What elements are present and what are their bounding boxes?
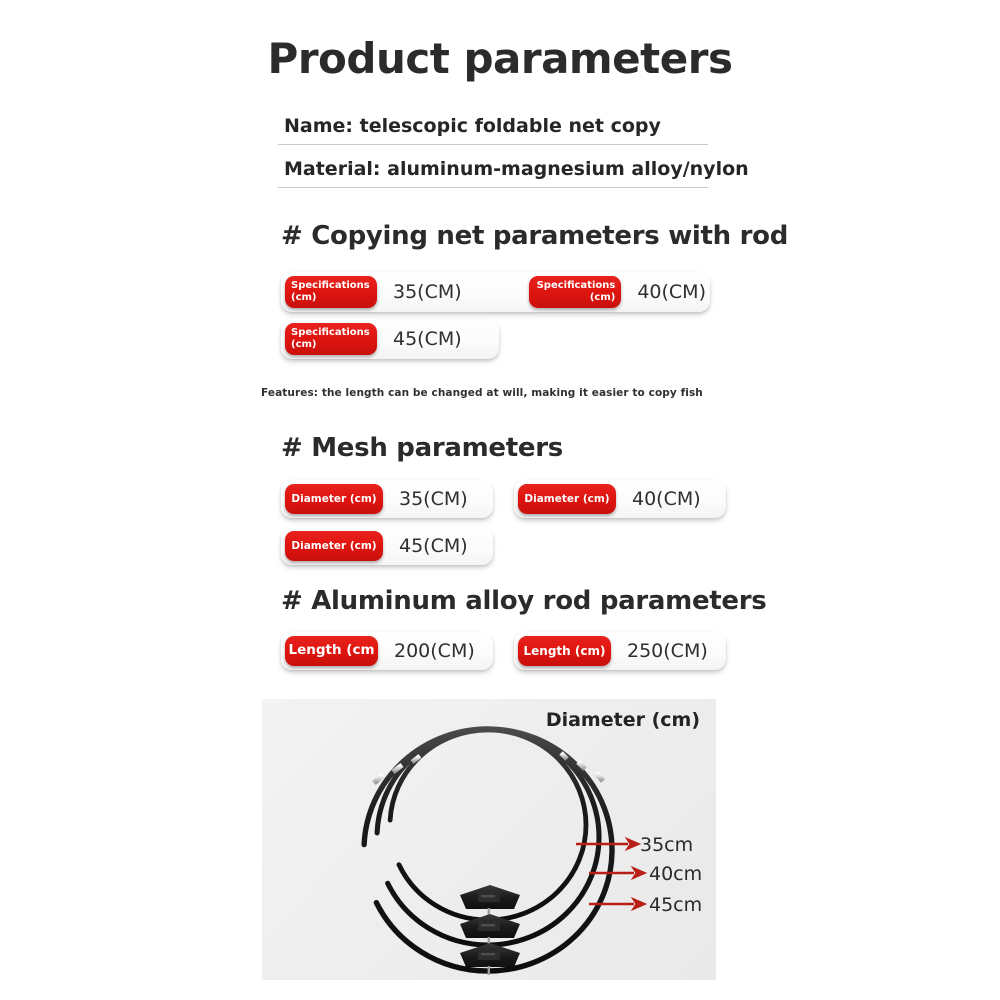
spec-material-line: Material: aluminum-magnesium alloy/nylon	[278, 158, 708, 188]
badge-line-2: (cm)	[535, 292, 615, 304]
badge-specifications-35: Specifications (cm)	[285, 276, 377, 308]
value-40cm-rod: 40(CM)	[621, 281, 706, 303]
value-45cm-rod: 45(CM)	[377, 328, 462, 350]
badge-diameter-35: Diameter (cm)	[285, 484, 383, 514]
badge-diameter-45: Diameter (cm)	[285, 531, 383, 561]
badge-diameter-40: Diameter (cm)	[518, 484, 616, 514]
badge-specifications-45: Specifications (cm)	[285, 323, 377, 355]
badge-length-250: Length (cm)	[518, 636, 611, 666]
features-note: Features: the length can be changed at w…	[261, 387, 703, 399]
section-heading-copying-net: # Copying net parameters with rod	[281, 221, 788, 251]
badge-specifications-40: Specifications (cm)	[529, 276, 621, 308]
value-250cm-rod: 250(CM)	[611, 640, 708, 662]
spec-name-line: Name: telescopic foldable net copy	[278, 115, 708, 145]
value-200cm-rod: 200(CM)	[378, 640, 475, 662]
value-45cm-mesh: 45(CM)	[383, 535, 468, 557]
badge-line-1: Specifications	[291, 280, 371, 292]
spec-row-2: Specifications (cm) 45(CM)	[281, 319, 499, 359]
annotation-label-40cm: 40cm	[649, 863, 702, 885]
page-title: Product parameters	[0, 34, 1000, 83]
mesh-row-40: Diameter (cm) 40(CM)	[514, 480, 726, 518]
badge-line-2: (cm)	[291, 339, 371, 351]
rod-row-200: Length (cm 200(CM)	[281, 632, 493, 670]
badge-line-1: Specifications	[291, 327, 371, 339]
spec-row-1: Specifications (cm) 35(CM) Specification…	[281, 272, 710, 312]
annotation-label-35cm: 35cm	[640, 834, 693, 856]
section-heading-alloy-rod: # Aluminum alloy rod parameters	[281, 586, 766, 616]
section-heading-mesh: # Mesh parameters	[281, 433, 563, 463]
annotation-label-45cm: 45cm	[649, 894, 702, 916]
badge-length-200: Length (cm	[285, 636, 378, 666]
rod-row-250: Length (cm) 250(CM)	[514, 632, 726, 670]
value-40cm-mesh: 40(CM)	[616, 488, 701, 510]
badge-line-1: Specifications	[535, 280, 615, 292]
value-35cm-mesh: 35(CM)	[383, 488, 468, 510]
badge-line-2: (cm)	[291, 292, 371, 304]
mesh-row-45: Diameter (cm) 45(CM)	[281, 527, 493, 565]
photo-overlay-label: Diameter (cm)	[546, 709, 700, 731]
mesh-row-35: Diameter (cm) 35(CM)	[281, 480, 493, 518]
value-35cm-rod: 35(CM)	[377, 281, 529, 303]
